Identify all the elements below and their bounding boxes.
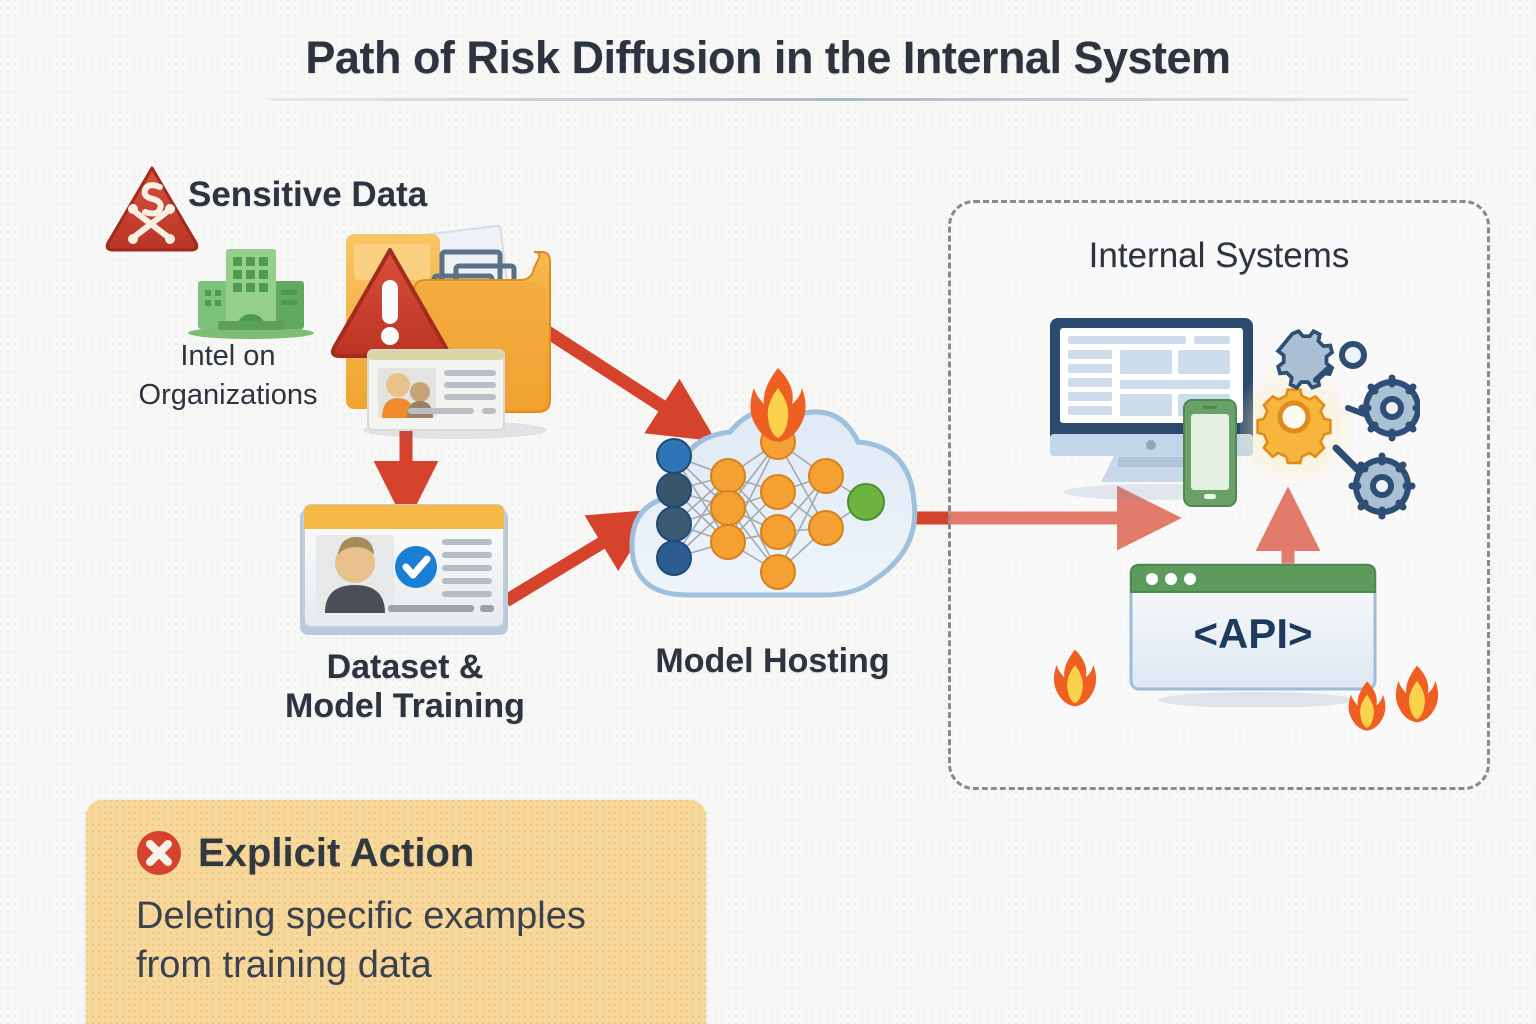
fire-icon: [1394, 664, 1440, 724]
dataset-label-line1: Dataset &: [230, 648, 580, 687]
gear-icon: [1258, 390, 1331, 463]
warning-folder-documents-icon: [330, 222, 570, 444]
dataset-label-line2: Model Training: [230, 687, 580, 726]
api-label: <API>: [1193, 610, 1312, 657]
gear-icon: [1336, 448, 1412, 516]
intel-caption-line1: Intel on: [130, 337, 326, 376]
internal-systems-title: Internal Systems: [948, 236, 1490, 276]
biohazard-warning-triangle-icon: [104, 163, 200, 253]
window-dots: [1146, 573, 1196, 585]
red-x-circle-icon: [136, 830, 182, 876]
gear-cluster: [1240, 322, 1420, 522]
fire-icon: [1347, 680, 1387, 732]
callout-body-line1: Deleting specific examples: [136, 892, 676, 941]
smartphone-icon: [1182, 398, 1238, 508]
intel-caption: Intel on Organizations: [130, 337, 326, 415]
sensitive-data-heading: Sensitive Data: [188, 175, 427, 215]
page-title: Path of Risk Diffusion in the Internal S…: [0, 32, 1536, 84]
explicit-action-callout: Explicit Action Deleting specific exampl…: [86, 800, 706, 1024]
model-hosting-label: Model Hosting: [600, 642, 945, 681]
fire-icon: [1052, 648, 1098, 708]
callout-body: Deleting specific examples from training…: [136, 892, 676, 991]
diagram-stage: Path of Risk Diffusion in the Internal S…: [0, 0, 1536, 1024]
api-browser-window[interactable]: <API>: [1128, 562, 1378, 707]
gear-icon: [1348, 378, 1420, 438]
verified-id-card-icon: [298, 503, 510, 638]
office-building-icon: [186, 243, 316, 339]
dataset-label: Dataset & Model Training: [230, 648, 580, 726]
callout-title: Explicit Action: [198, 831, 474, 876]
intel-caption-line2: Organizations: [130, 376, 326, 415]
fire-icon: [748, 366, 808, 444]
title-divider: [268, 98, 1408, 101]
callout-body-line2: from training data: [136, 941, 676, 990]
